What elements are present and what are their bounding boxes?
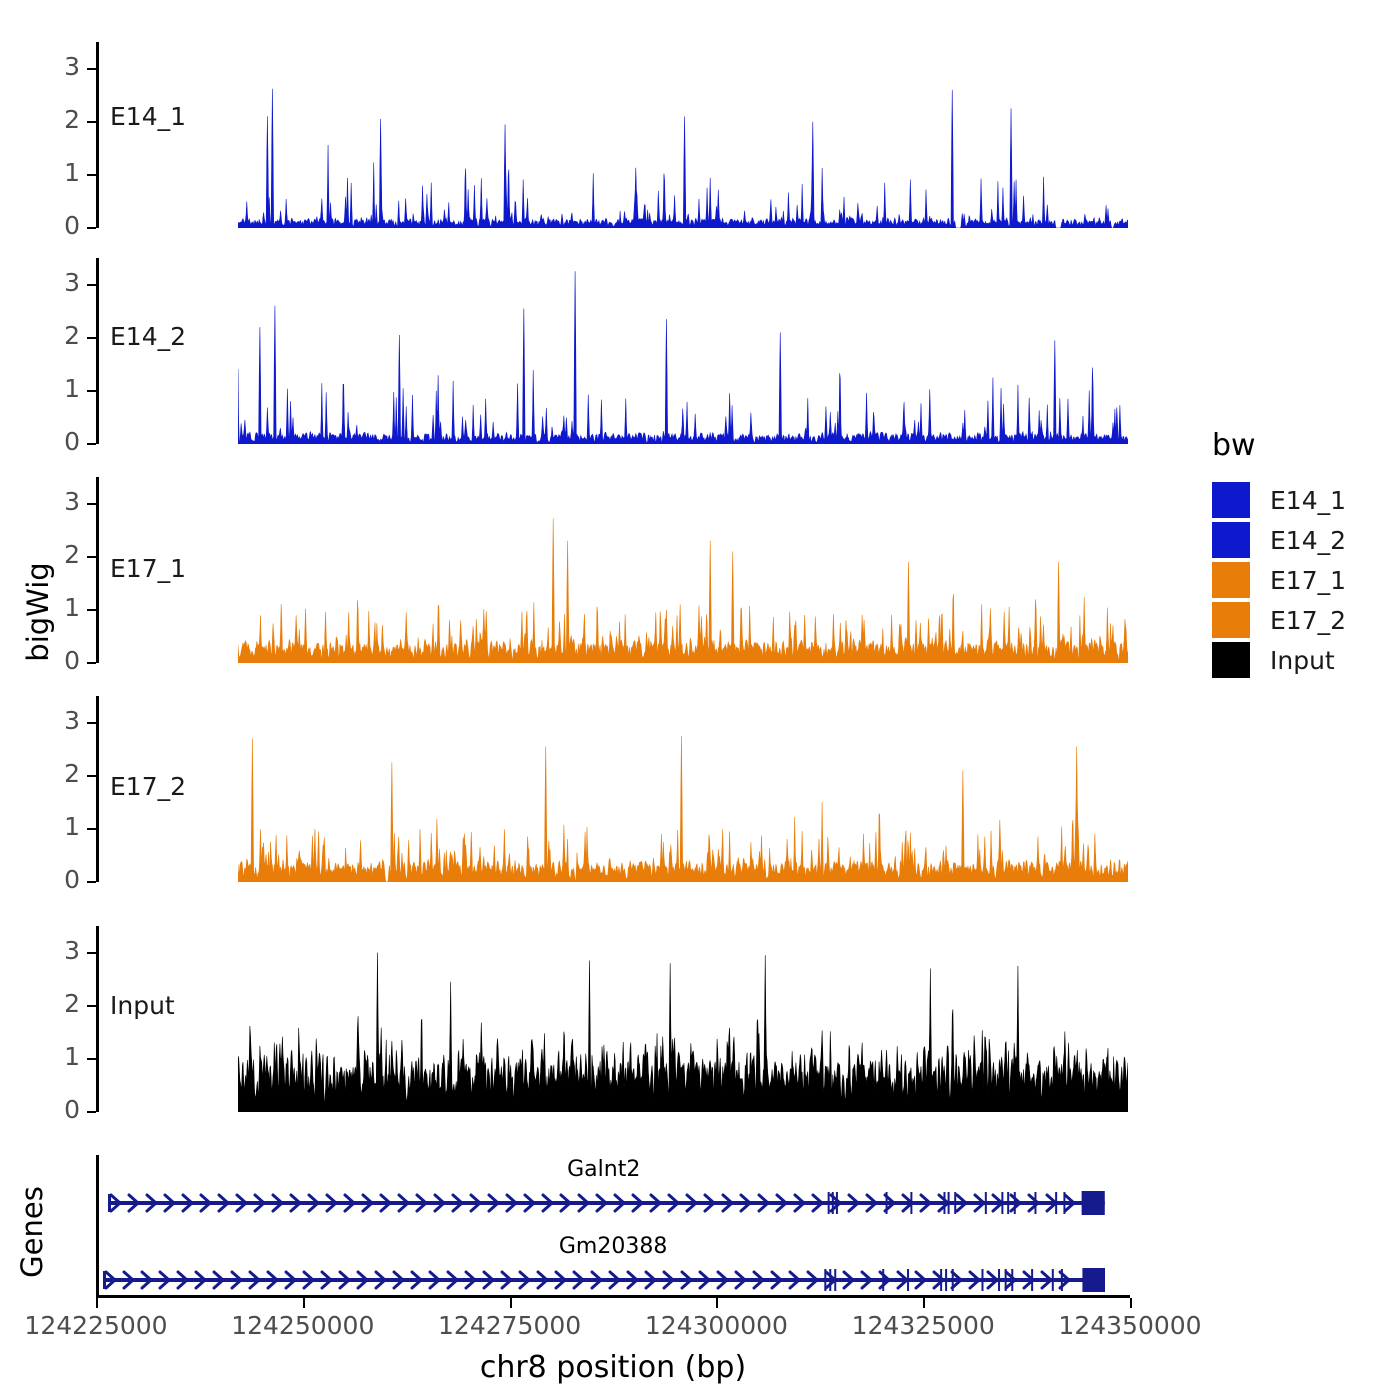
y-tick-e17_2-1 xyxy=(87,828,96,830)
x-tick-label-124225000: 124225000 xyxy=(6,1311,186,1340)
y-tick-label-e17_2-3: 3 xyxy=(38,706,80,735)
y-tick-label-e17_1-2: 2 xyxy=(38,540,80,569)
legend-label-input: Input xyxy=(1270,646,1335,675)
x-axis-title: chr8 position (bp) xyxy=(96,1350,1130,1385)
y-tick-label-input-2: 2 xyxy=(38,989,80,1018)
x-tick-124300000 xyxy=(716,1298,718,1308)
y-axis-line-e17_2 xyxy=(96,696,99,882)
legend-item-e17_2[interactable]: E17_2 xyxy=(1212,601,1346,639)
y-tick-e14_2-0 xyxy=(87,443,96,445)
track-label-e14_2: E14_2 xyxy=(110,322,186,351)
y-tick-e14_1-1 xyxy=(87,174,96,176)
signal-area-e14_2 xyxy=(238,258,1128,444)
y-tick-e14_1-0 xyxy=(87,227,96,229)
x-tick-label-124250000: 124250000 xyxy=(213,1311,393,1340)
y-axis-line-e17_1 xyxy=(96,477,99,663)
legend-label-e14_2: E14_2 xyxy=(1270,526,1346,555)
gene-label-gm20388: Gm20388 xyxy=(559,1234,667,1259)
gene-track-gm20388[interactable] xyxy=(103,1264,1106,1296)
y-tick-e17_2-0 xyxy=(87,881,96,883)
y-tick-input-1 xyxy=(87,1058,96,1060)
x-tick-124325000 xyxy=(923,1298,925,1308)
track-panel-input: 0123Input xyxy=(96,926,1130,1112)
x-axis-line xyxy=(96,1295,1130,1298)
legend: bw E14_1E14_2E17_1E17_2Input xyxy=(1212,428,1346,681)
x-tick-label-124350000: 124350000 xyxy=(1040,1311,1220,1340)
y-tick-e14_2-3 xyxy=(87,284,96,286)
legend-item-e14_1[interactable]: E14_1 xyxy=(1212,481,1346,519)
legend-item-e14_2[interactable]: E14_2 xyxy=(1212,521,1346,559)
y-tick-e14_1-3 xyxy=(87,68,96,70)
y-tick-label-e17_2-2: 2 xyxy=(38,759,80,788)
track-panel-e14_1: 0123E14_1 xyxy=(96,42,1130,228)
y-tick-label-e17_2-1: 1 xyxy=(38,812,80,841)
track-panel-e17_1: 0123E17_1 xyxy=(96,477,1130,663)
y-tick-label-e17_2-0: 0 xyxy=(38,865,80,894)
legend-swatch-e17_1 xyxy=(1212,562,1250,598)
y-tick-input-0 xyxy=(87,1111,96,1113)
legend-swatch-input xyxy=(1212,642,1250,678)
y-tick-input-2 xyxy=(87,1005,96,1007)
y-tick-label-input-0: 0 xyxy=(38,1095,80,1124)
y-tick-input-3 xyxy=(87,952,96,954)
x-tick-124250000 xyxy=(303,1298,305,1308)
y-tick-label-e14_2-3: 3 xyxy=(38,268,80,297)
track-label-e14_1: E14_1 xyxy=(110,102,186,131)
y-tick-label-e14_1-1: 1 xyxy=(38,158,80,187)
signal-area-e17_2 xyxy=(238,696,1128,882)
track-label-e17_2: E17_2 xyxy=(110,772,186,801)
y-tick-e14_2-2 xyxy=(87,337,96,339)
y-tick-e17_2-2 xyxy=(87,775,96,777)
y-tick-label-e14_2-1: 1 xyxy=(38,374,80,403)
legend-label-e17_1: E17_1 xyxy=(1270,566,1346,595)
legend-title: bw xyxy=(1212,428,1346,463)
y-tick-e17_1-0 xyxy=(87,662,96,664)
gene-label-galnt2: Galnt2 xyxy=(567,1157,640,1182)
track-label-e17_1: E17_1 xyxy=(110,554,186,583)
legend-label-e17_2: E17_2 xyxy=(1270,606,1346,635)
y-axis-line-e14_2 xyxy=(96,258,99,444)
x-tick-124350000 xyxy=(1130,1298,1132,1308)
y-tick-e17_2-3 xyxy=(87,722,96,724)
legend-swatch-e14_2 xyxy=(1212,522,1250,558)
legend-label-e14_1: E14_1 xyxy=(1270,486,1346,515)
genes-panel: Galnt2Gm20388 xyxy=(96,1155,1130,1295)
y-tick-label-e17_1-0: 0 xyxy=(38,646,80,675)
legend-swatch-e17_2 xyxy=(1212,602,1250,638)
y-tick-e17_1-1 xyxy=(87,609,96,611)
legend-swatch-e14_1 xyxy=(1212,482,1250,518)
x-tick-label-124275000: 124275000 xyxy=(420,1311,600,1340)
signal-area-e14_1 xyxy=(238,42,1128,228)
y-tick-label-input-1: 1 xyxy=(38,1042,80,1071)
signal-area-e17_1 xyxy=(238,477,1128,663)
y-tick-label-e17_1-1: 1 xyxy=(38,593,80,622)
y-axis-title-genes: Genes xyxy=(15,1142,49,1322)
y-tick-label-e14_1-2: 2 xyxy=(38,105,80,134)
y-tick-label-e14_2-2: 2 xyxy=(38,321,80,350)
legend-items: E14_1E14_2E17_1E17_2Input xyxy=(1212,481,1346,679)
legend-item-input[interactable]: Input xyxy=(1212,641,1346,679)
y-tick-label-input-3: 3 xyxy=(38,936,80,965)
signal-area-input xyxy=(238,926,1128,1112)
y-tick-label-e14_1-0: 0 xyxy=(38,211,80,240)
legend-item-e17_1[interactable]: E17_1 xyxy=(1212,561,1346,599)
y-tick-e14_1-2 xyxy=(87,121,96,123)
y-tick-label-e17_1-3: 3 xyxy=(38,487,80,516)
y-tick-e17_1-3 xyxy=(87,503,96,505)
y-axis-line-e14_1 xyxy=(96,42,99,228)
x-tick-124225000 xyxy=(96,1298,98,1308)
y-tick-label-e14_1-3: 3 xyxy=(38,52,80,81)
track-label-input: Input xyxy=(110,991,175,1020)
gene-track-galnt2[interactable] xyxy=(108,1187,1105,1219)
x-tick-label-124300000: 124300000 xyxy=(626,1311,806,1340)
y-tick-e17_1-2 xyxy=(87,556,96,558)
track-panel-e17_2: 0123E17_2 xyxy=(96,696,1130,882)
track-panel-e14_2: 0123E14_2 xyxy=(96,258,1130,444)
y-tick-label-e14_2-0: 0 xyxy=(38,427,80,456)
y-tick-e14_2-1 xyxy=(87,390,96,392)
y-axis-line-input xyxy=(96,926,99,1112)
x-tick-label-124325000: 124325000 xyxy=(833,1311,1013,1340)
genes-axis-line xyxy=(96,1155,99,1295)
x-tick-124275000 xyxy=(510,1298,512,1308)
